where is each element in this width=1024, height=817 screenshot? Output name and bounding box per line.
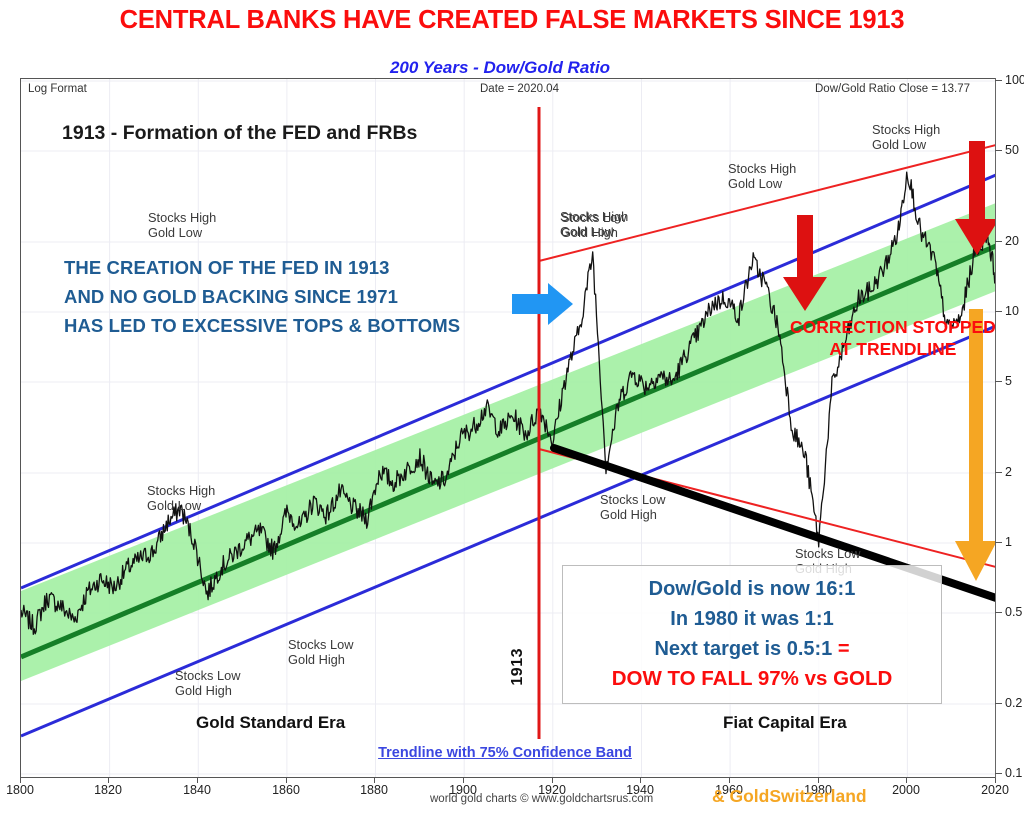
y-tick-mark-10 bbox=[995, 311, 1002, 312]
fed-creation-callout: THE CREATION OF THE FED IN 1913 AND NO G… bbox=[64, 253, 460, 340]
note-stocks-high-gold-low-1929: Stocks High Gold Low bbox=[560, 209, 628, 239]
dow-gold-summary-box: Dow/Gold is now 16:1 In 1980 it was 1:1 … bbox=[562, 565, 942, 704]
x-tick-label-1880: 1880 bbox=[360, 783, 388, 797]
y-tick-label-0.5: 0.5 bbox=[1005, 605, 1022, 619]
y-tick-mark-5 bbox=[995, 381, 1002, 382]
date-label: Date = 2020.04 bbox=[480, 83, 559, 95]
y-tick-label-5: 5 bbox=[1005, 374, 1012, 388]
summary-line-3-equals: = bbox=[838, 638, 850, 660]
chart-subtitle: 200 Years - Dow/Gold Ratio bbox=[0, 58, 1000, 78]
y-tick-mark-0.2 bbox=[995, 703, 1002, 704]
y-tick-label-0.1: 0.1 bbox=[1005, 766, 1022, 780]
x-tick-label-1860: 1860 bbox=[272, 783, 300, 797]
trendline-legend: Trendline with 75% Confidence Band bbox=[0, 745, 1010, 761]
note-stocks-low-gold-high-1842: Stocks Low Gold High bbox=[175, 668, 240, 698]
summary-line-1: Dow/Gold is now 16:1 bbox=[563, 574, 941, 604]
y-tick-mark-50 bbox=[995, 150, 1002, 151]
x-tick-label-1800: 1800 bbox=[6, 783, 34, 797]
page-title: CENTRAL BANKS HAVE CREATED FALSE MARKETS… bbox=[0, 6, 1024, 35]
brand-label: & GoldSwitzerland bbox=[712, 786, 867, 807]
y-tick-mark-100 bbox=[995, 80, 1002, 81]
y-tick-label-2: 2 bbox=[1005, 465, 1012, 479]
summary-line-3: Next target is 0.5:1 = bbox=[563, 634, 941, 664]
summary-line-3-text: Next target is 0.5:1 bbox=[654, 638, 837, 660]
note-stocks-high-gold-low-1999: Stocks High Gold Low bbox=[872, 122, 940, 152]
callout-line-1: THE CREATION OF THE FED IN 1913 bbox=[64, 253, 460, 282]
note-stocks-high-gold-low-1966: Stocks High Gold Low bbox=[728, 161, 796, 191]
note-stocks-low-gold-high-1932: Stocks Low Gold High bbox=[600, 492, 665, 522]
callout-line-3: HAS LED TO EXCESSIVE TOPS & BOTTOMS bbox=[64, 311, 460, 340]
y-tick-mark-1 bbox=[995, 542, 1002, 543]
y-tick-label-10: 10 bbox=[1005, 304, 1019, 318]
x-tick-label-1820: 1820 bbox=[94, 783, 122, 797]
year-1913-label: 1913 bbox=[509, 648, 527, 686]
correction-stopped-note: CORRECTION STOPPED AT TRENDLINE bbox=[790, 316, 996, 360]
era-label-gold-standard: Gold Standard Era bbox=[196, 713, 345, 733]
summary-line-2: In 1980 it was 1:1 bbox=[563, 604, 941, 634]
y-tick-label-50: 50 bbox=[1005, 143, 1019, 157]
y-tick-label-20: 20 bbox=[1005, 234, 1019, 248]
x-tick-label-1840: 1840 bbox=[183, 783, 211, 797]
y-tick-label-0.2: 0.2 bbox=[1005, 696, 1022, 710]
y-tick-mark-0.5 bbox=[995, 612, 1002, 613]
x-tick-label-2020: 2020 bbox=[981, 783, 1009, 797]
log-format-label: Log Format bbox=[28, 83, 87, 95]
fed-formation-headline: 1913 - Formation of the FED and FRBs bbox=[62, 122, 417, 145]
y-axis-line bbox=[995, 78, 996, 778]
callout-line-2: AND NO GOLD BACKING SINCE 1971 bbox=[64, 282, 460, 311]
blue-arrow-icon bbox=[512, 281, 574, 332]
y-tick-mark-0.1 bbox=[995, 773, 1002, 774]
summary-line-4: DOW TO FALL 97% vs GOLD bbox=[563, 664, 941, 694]
note-stocks-high-gold-low-1835: Stocks High Gold Low bbox=[147, 483, 215, 513]
y-tick-mark-20 bbox=[995, 241, 1002, 242]
note-peak-1835: Stocks High Gold Low bbox=[148, 210, 216, 240]
x-tick-label-2000: 2000 bbox=[892, 783, 920, 797]
y-tick-mark-2 bbox=[995, 472, 1002, 473]
era-label-fiat-capital: Fiat Capital Era bbox=[723, 713, 847, 733]
note-stocks-low-gold-high-1860: Stocks Low Gold High bbox=[288, 637, 353, 667]
y-tick-label-1: 1 bbox=[1005, 535, 1012, 549]
close-value-label: Dow/Gold Ratio Close = 13.77 bbox=[815, 83, 970, 95]
credit-text: world gold charts © www.goldchartsrus.co… bbox=[430, 793, 653, 805]
y-tick-label-100: 100 bbox=[1005, 73, 1024, 87]
